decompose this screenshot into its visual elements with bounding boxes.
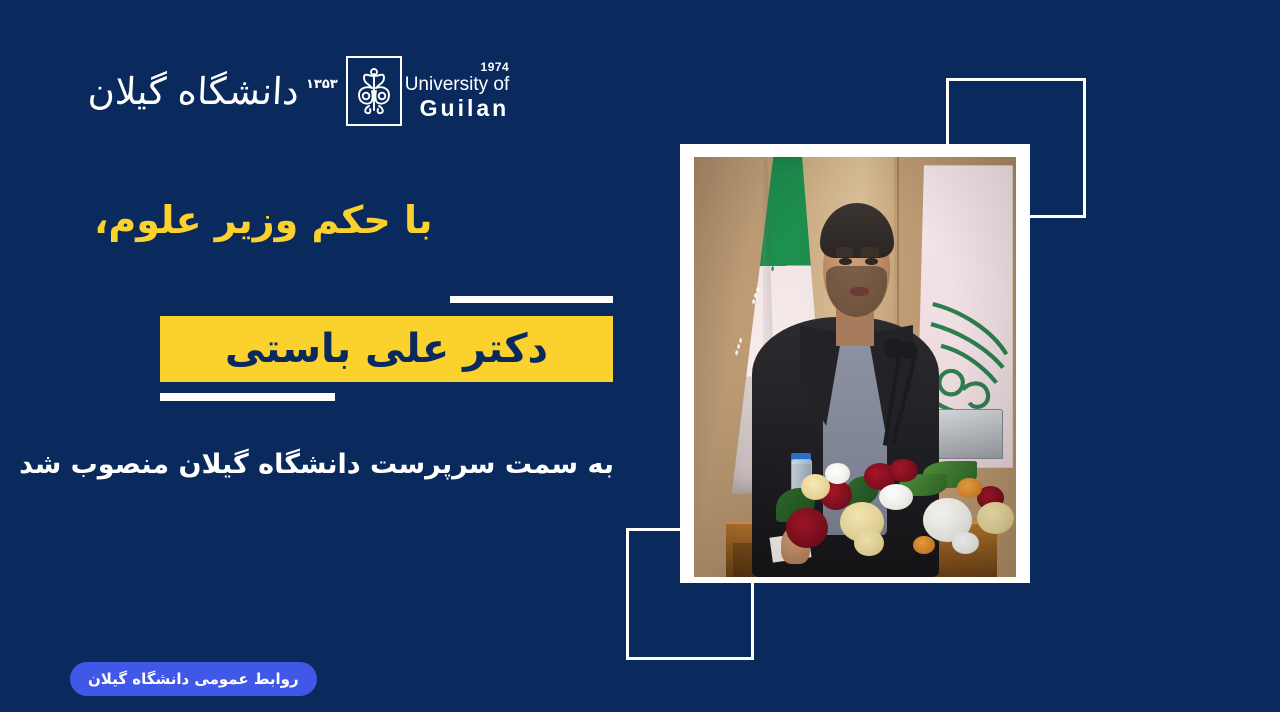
logo-year-persian: ۱۳۵۳: [306, 77, 338, 92]
logo-persian-name: دانشگاه گیلان: [87, 73, 300, 110]
speaker-photo: ▰▰▰ ▰▰▰ ▰▰▰ ▰▰▰: [694, 157, 1016, 577]
rule-above-name: [450, 296, 613, 303]
person-name: دکتر علی باستی: [225, 326, 548, 372]
logo-english-line2: Guilan: [420, 95, 510, 121]
public-relations-badge: روابط عمومی دانشگاه گیلان: [70, 662, 317, 696]
headline-top-line: با حکم وزیر علوم،: [94, 198, 614, 242]
photo-card: ▰▰▰ ▰▰▰ ▰▰▰ ▰▰▰: [680, 144, 1030, 583]
logo-year-gregorian: 1974: [481, 60, 510, 74]
logo-english-lockup: 1974 University of Guilan: [405, 60, 510, 121]
guilan-butterfly-emblem-icon: [346, 56, 402, 126]
photo-vignette: [694, 157, 1016, 577]
university-logo: دانشگاه گیلان ۱۳۵۳ 1974 University of Gu…: [88, 46, 408, 136]
logo-english-line1: University of: [405, 75, 510, 95]
headline-sub-line: به سمت سرپرست دانشگاه گیلان منصوب شد: [94, 449, 614, 480]
public-relations-badge-label: روابط عمومی دانشگاه گیلان: [88, 670, 299, 688]
name-highlight-band: دکتر علی باستی: [160, 316, 613, 382]
announcement-poster: دانشگاه گیلان ۱۳۵۳ 1974 University of Gu…: [0, 0, 1280, 712]
rule-below-name: [160, 393, 335, 401]
